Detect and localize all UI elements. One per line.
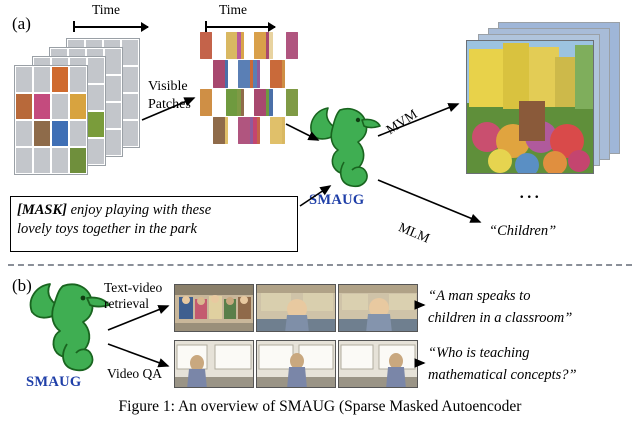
time-label-right: Time — [219, 2, 247, 18]
output-qa-line1: “Who is teaching — [428, 344, 530, 363]
videoqa-frame-3 — [338, 340, 418, 388]
retrieval-video-frame-2 — [256, 284, 336, 332]
panel-a-tag: (a) — [12, 14, 31, 34]
time-arrow-right — [205, 22, 275, 32]
mask-token: [MASK] — [17, 202, 67, 218]
recon-frame-1 — [466, 40, 594, 174]
ellipsis-label: ... — [519, 178, 542, 204]
figure-overview: (a) Time Time — [0, 0, 640, 421]
patch-frame-1 — [200, 32, 250, 144]
smaug-dragon-icon-a — [306, 100, 384, 190]
output-word-children: “Children” — [489, 222, 556, 241]
smaug-dragon-icon-b — [24, 276, 114, 372]
branch-label-mlm: MLM — [396, 219, 432, 246]
retrieval-video-frame-3 — [338, 284, 418, 332]
panel-divider — [8, 264, 632, 266]
masked-text-line2: lovely toys together in the park — [17, 221, 197, 237]
task-label-video-qa: Video QA — [107, 366, 162, 382]
figure-caption: Figure 1: An overview of SMAUG (Sparse M… — [8, 398, 632, 416]
videoqa-frame-1 — [174, 340, 254, 388]
time-arrow-left — [73, 22, 148, 32]
task-label-retrieval-line2: retrieval — [104, 296, 149, 312]
smaug-label-b: SMAUG — [26, 374, 81, 391]
smaug-label-a: SMAUG — [309, 192, 364, 209]
masked-text-line1: enjoy playing with these — [67, 202, 211, 218]
time-label-left: Time — [92, 2, 120, 18]
output-retrieval-line1: “A man speaks to — [428, 287, 530, 306]
output-retrieval-line2: children in a classroom” — [428, 309, 572, 328]
visible-patches-label-line1: Visible — [148, 79, 188, 95]
output-qa-line2: mathematical concepts?” — [428, 366, 577, 385]
branch-label-mvm: MVM — [383, 106, 420, 138]
videoqa-frame-2 — [256, 340, 336, 388]
visible-patches-label-line2: Patches — [148, 97, 191, 113]
retrieval-video-frame-1 — [174, 284, 254, 332]
masked-frame-1 — [14, 65, 88, 175]
masked-text-box: [MASK] enjoy playing with these lovely t… — [10, 196, 298, 252]
task-label-retrieval-line1: Text-video — [104, 280, 162, 296]
